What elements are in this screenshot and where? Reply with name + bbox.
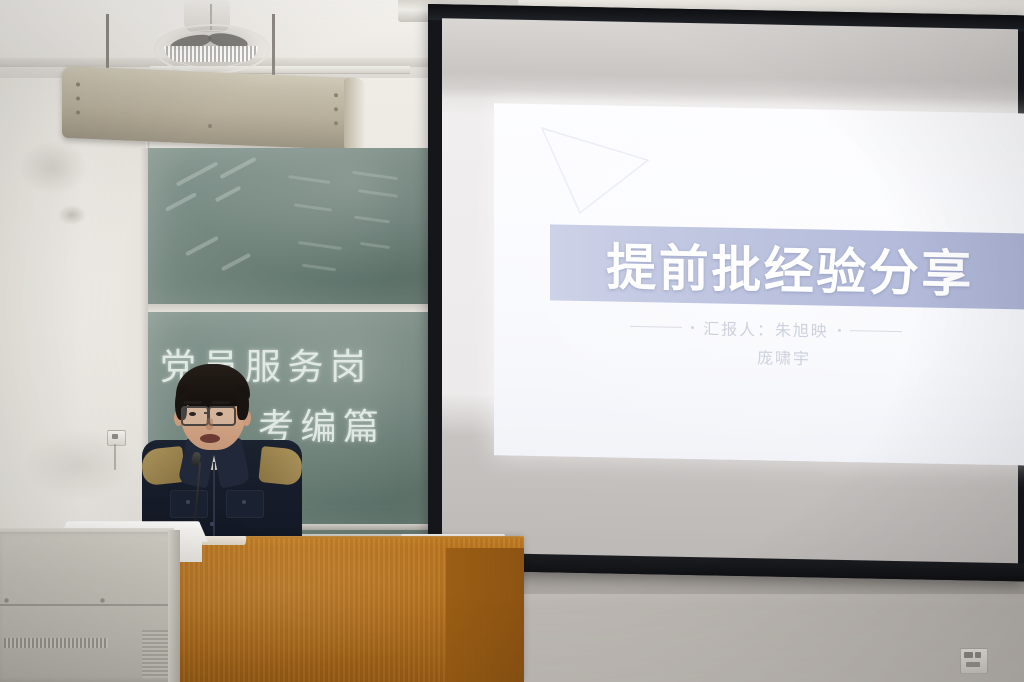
jacket-button	[242, 500, 246, 504]
outlet-slot	[964, 652, 973, 658]
light-bolt	[334, 93, 338, 97]
wall-stain	[18, 140, 88, 195]
chalk-smudge	[294, 203, 332, 211]
cabinet-screw	[4, 598, 9, 603]
chalk-smudge	[185, 236, 219, 256]
chalk-smudge	[354, 216, 390, 224]
cabinet-right-edge	[168, 530, 180, 682]
fan-rim	[164, 46, 258, 62]
chalk-smudge	[302, 264, 336, 272]
outlet-slot	[966, 662, 980, 667]
chalk-smudge	[219, 157, 256, 179]
wall-switch-toggle	[112, 434, 118, 439]
blackboard-sheen	[148, 148, 433, 304]
podium-side-face	[446, 548, 524, 682]
wall-stain	[58, 205, 86, 225]
light-bolt	[76, 82, 80, 86]
light-bolt	[334, 121, 338, 125]
light-bolt	[76, 110, 80, 114]
decorative-dash-left	[630, 325, 682, 327]
light-suspension-rod	[272, 14, 275, 78]
chalk-smudge	[288, 175, 330, 184]
chalk-smudge	[360, 242, 390, 249]
wall-switch-wire	[114, 444, 116, 470]
light-bolt	[76, 96, 80, 100]
hanging-light-icon	[62, 66, 358, 150]
outlet-slot	[975, 652, 981, 658]
light-bolt	[208, 124, 212, 128]
slide-reporter-label: 汇报人：朱旭映	[703, 315, 828, 341]
light-shade-end-cap	[344, 78, 366, 151]
screen-surface: 提前批经验分享 汇报人：朱旭映 庞啸宇	[442, 18, 1018, 565]
presenter	[136, 364, 308, 544]
cabinet-vent-slots-side	[142, 630, 168, 678]
decorative-dot-right	[838, 328, 841, 331]
chalk-smudge	[352, 171, 398, 180]
chalk-smudge	[298, 241, 342, 250]
cabinet-vent-slots	[4, 638, 108, 648]
presenter-mouth	[200, 434, 220, 443]
triangle-outline-icon	[536, 116, 656, 218]
presenter-nose	[206, 418, 213, 430]
chalk-smudge	[176, 161, 218, 186]
chalk-smudge	[165, 192, 197, 211]
presenter-eyebrow-left	[184, 401, 202, 404]
jacket-shoulder-panel-left	[140, 446, 186, 486]
light-bolt	[334, 107, 338, 111]
slide-title: 提前批经验分享	[546, 227, 1024, 306]
chalk-smudge	[358, 189, 398, 198]
jacket-pocket-right	[226, 490, 264, 518]
projection-screen: 提前批经验分享 汇报人：朱旭映 庞啸宇	[428, 4, 1024, 581]
presenter-hair-side-right	[237, 386, 249, 420]
jacket-pocket-left	[170, 490, 208, 518]
jacket-zipper	[213, 462, 215, 542]
cabinet-panel-seam	[0, 604, 174, 606]
presenter-eyebrow-right	[212, 401, 230, 404]
lecture-room-photo: 党员服务岗 考编篇 提前批经验分享 汇报人：朱旭映	[0, 0, 1024, 682]
chalk-smudge	[215, 186, 242, 203]
glasses-icon	[181, 406, 209, 426]
jacket-button	[210, 522, 214, 526]
glasses-bridge	[204, 412, 210, 414]
slide-reporter-second: 庞啸宇	[494, 339, 1024, 374]
presenter-eye-left	[189, 412, 196, 416]
presentation-slide: 提前批经验分享 汇报人：朱旭映 庞啸宇	[494, 103, 1024, 465]
decorative-dot-left	[691, 326, 694, 329]
jacket-button	[186, 500, 190, 504]
cabinet-screw	[100, 598, 105, 603]
blackboard-upper	[148, 148, 433, 304]
chalk-smudge	[221, 253, 251, 272]
ceiling-fan-icon	[150, 0, 270, 78]
decorative-dash-right	[850, 330, 902, 332]
presenter-eye-right	[216, 412, 223, 416]
